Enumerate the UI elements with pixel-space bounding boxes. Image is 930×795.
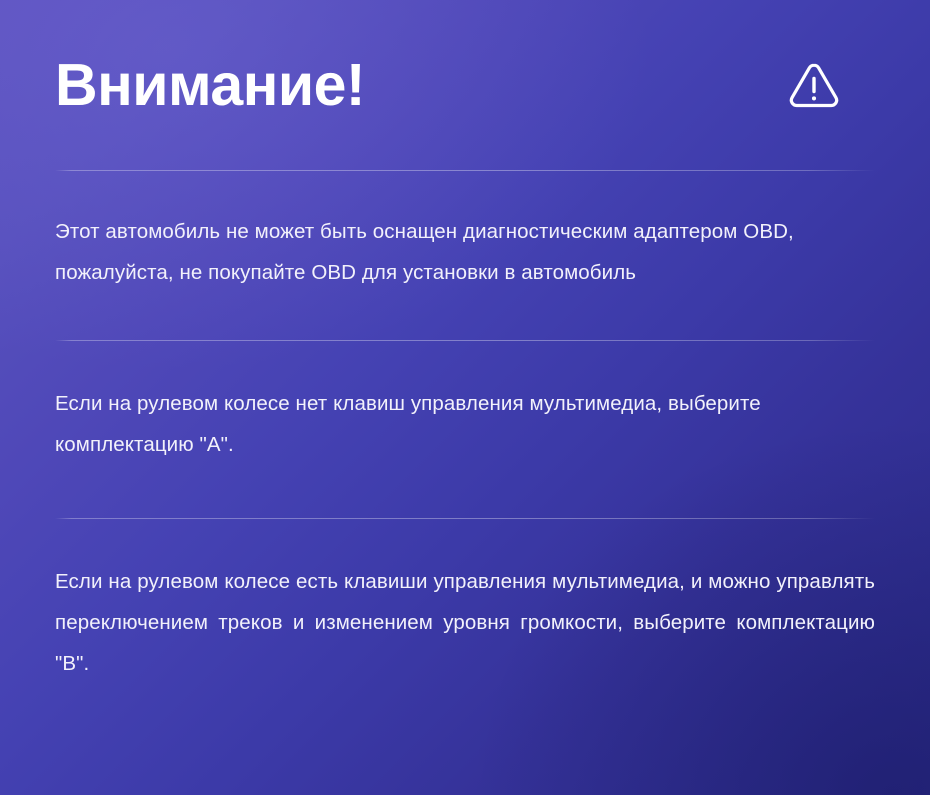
header: Внимание! bbox=[55, 0, 875, 170]
content-container: Внимание! Этот автомобиль не может быть … bbox=[0, 0, 930, 684]
warning-triangle-icon bbox=[786, 57, 842, 113]
notice-text: Этот автомобиль не может быть оснащен ди… bbox=[55, 211, 875, 293]
notice-block-trim-a: Если на рулевом колесе нет клавиш управл… bbox=[55, 341, 875, 518]
notice-block-obd-not-supported: Этот автомобиль не может быть оснащен ди… bbox=[55, 171, 875, 340]
notice-block-trim-b: Если на рулевом колесе есть клавиши упра… bbox=[55, 519, 875, 684]
notice-text: Если на рулевом колесе есть клавиши упра… bbox=[55, 561, 875, 684]
notice-text: Если на рулевом колесе нет клавиш управл… bbox=[55, 383, 875, 465]
warning-notice-screen: Внимание! Этот автомобиль не может быть … bbox=[0, 0, 930, 795]
page-title: Внимание! bbox=[55, 56, 365, 115]
